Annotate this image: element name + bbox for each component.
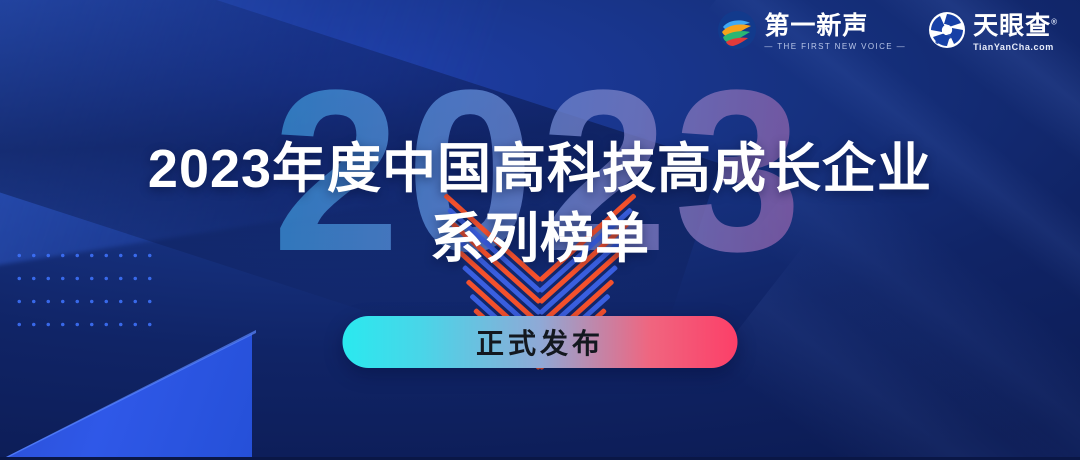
release-badge-label: 正式发布 — [476, 322, 604, 362]
release-badge[interactable]: 正式发布 — [343, 316, 738, 368]
logo-tianyancha-name: 天眼查® — [973, 14, 1058, 39]
registered-trademark-icon: ® — [1051, 17, 1058, 26]
logo-tianyancha-name-cn: 天眼查 — [973, 12, 1051, 40]
title-block: 2023年度中国高科技高成长企业 系列榜单 — [0, 134, 1080, 274]
bottom-left-triangle-edge — [0, 330, 256, 460]
aperture-eye-icon — [928, 11, 966, 54]
logo-tianyancha-tagline: TianYanCha.com — [973, 43, 1058, 52]
ribbon-swirl-icon — [717, 10, 757, 55]
logo-diyixinsheng-text: 第一新声 — THE FIRST NEW VOICE — — [764, 14, 906, 51]
bottom-left-triangle — [0, 334, 252, 460]
page-title-line-2: 系列榜单 — [0, 204, 1080, 274]
logo-tianyancha[interactable]: 天眼查® TianYanCha.com — [928, 11, 1058, 54]
logo-diyixinsheng-name: 第一新声 — [764, 14, 906, 39]
promo-banner: 2023 2023年度中国高科技高成长企业 系列榜单 正式发布 第一新声 — [0, 0, 1080, 460]
logo-tianyancha-text: 天眼查® TianYanCha.com — [973, 14, 1058, 52]
logo-diyixinsheng-tagline: — THE FIRST NEW VOICE — — [764, 43, 906, 51]
page-title-line-1: 2023年度中国高科技高成长企业 — [0, 134, 1080, 204]
logo-diyixinsheng[interactable]: 第一新声 — THE FIRST NEW VOICE — — [717, 10, 906, 55]
logo-group: 第一新声 — THE FIRST NEW VOICE — 天眼查® — [717, 10, 1058, 55]
